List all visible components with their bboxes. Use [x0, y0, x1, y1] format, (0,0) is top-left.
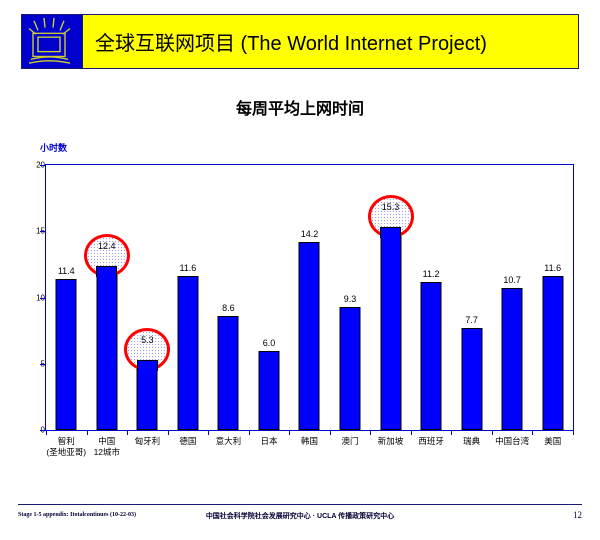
page-title: 全球互联网项目 (The World Internet Project) [95, 27, 487, 56]
x-tick-mark [532, 431, 533, 435]
bar-value-label: 6.0 [263, 338, 276, 348]
x-category-label: 中国台湾 [495, 436, 529, 447]
x-category-label: 中国12城市 [94, 436, 120, 458]
bar-slot: 5.3 [127, 165, 168, 430]
y-tick-mark [40, 298, 45, 299]
bar [380, 227, 401, 430]
x-tick-mark [127, 431, 128, 435]
bar-value-label: 15.3 [382, 202, 400, 212]
x-tick-mark [168, 431, 169, 435]
bar-value-label: 10.7 [503, 275, 521, 285]
x-tick-mark [208, 431, 209, 435]
bar [461, 328, 482, 430]
bar [56, 279, 77, 430]
bar-slot: 10.7 [492, 165, 533, 430]
bar [258, 351, 279, 431]
x-category-label: 智利(圣地亚哥) [46, 436, 86, 458]
wip-logo [22, 15, 83, 68]
footer-divider [18, 504, 582, 505]
bar-value-label: 7.7 [465, 315, 478, 325]
chart-title: 每周平均上网时间 [0, 95, 600, 119]
bar-series: 11.412.45.311.68.66.014.29.315.311.27.71… [46, 165, 573, 430]
x-category-label: 新加坡 [378, 436, 404, 447]
y-axis-label: 小时数 [40, 141, 67, 154]
x-category-label: 韩国 [301, 436, 318, 447]
x-tick-mark [249, 431, 250, 435]
bar-top-segment [96, 266, 117, 277]
slide-header: 全球互联网项目 (The World Internet Project) [21, 14, 579, 69]
bar-slot: 11.4 [46, 165, 87, 430]
bar [340, 307, 361, 430]
bar-value-label: 11.4 [58, 266, 75, 276]
x-tick-mark [492, 431, 493, 435]
bar-slot: 11.2 [411, 165, 452, 430]
bar-slot: 6.0 [249, 165, 290, 430]
bar-value-label: 5.3 [141, 335, 154, 345]
x-category-label: 瑞典 [463, 436, 480, 447]
x-tick-mark [411, 431, 412, 435]
bar-value-label: 8.6 [222, 303, 235, 313]
bar [421, 282, 442, 430]
x-category-label: 西班牙 [418, 436, 444, 447]
bar [96, 266, 117, 430]
monitor-screen-icon [22, 15, 82, 68]
x-category-label: 美国 [544, 436, 561, 447]
x-tick-mark [87, 431, 88, 435]
x-tick-mark [289, 431, 290, 435]
x-category-label: 日本 [260, 436, 277, 447]
x-tick-mark [370, 431, 371, 435]
bar-top-segment [137, 360, 158, 371]
bar-value-label: 9.3 [344, 294, 357, 304]
header-banner: 全球互联网项目 (The World Internet Project) [83, 15, 578, 68]
y-tick-mark [40, 430, 45, 431]
bar [218, 316, 239, 430]
footer-organization-text: 中国社会科学院社会发展研究中心 · UCLA 传播政策研究中心 [0, 511, 600, 521]
x-tick-mark [46, 431, 47, 435]
bar-value-label: 12.4 [98, 241, 116, 251]
x-axis-labels: 智利(圣地亚哥)中国12城市匈牙利德国意大利日本韩国澳门新加坡西班牙瑞典中国台湾… [0, 436, 600, 484]
bar [542, 276, 563, 430]
x-category-label: 澳门 [342, 436, 359, 447]
bar-slot: 11.6 [168, 165, 209, 430]
x-category-label: 意大利 [216, 436, 242, 447]
bar-slot: 8.6 [208, 165, 249, 430]
x-tick-mark [573, 431, 574, 435]
y-tick-mark [40, 364, 45, 365]
bar-value-label: 11.2 [423, 269, 440, 279]
bar [299, 242, 320, 430]
bar-slot: 7.7 [451, 165, 492, 430]
bar-value-label: 11.6 [179, 263, 196, 273]
bar-slot: 14.2 [289, 165, 330, 430]
bar [502, 288, 523, 430]
bar-slot: 9.3 [330, 165, 371, 430]
bar [177, 276, 198, 430]
x-category-label: 匈牙利 [135, 436, 161, 447]
y-tick-mark [40, 231, 45, 232]
x-category-label: 德国 [179, 436, 196, 447]
bar-slot: 11.6 [532, 165, 573, 430]
x-tick-mark [451, 431, 452, 435]
bar-slot: 12.4 [87, 165, 128, 430]
bar-value-label: 11.6 [544, 263, 561, 273]
footer-page-number: 12 [573, 510, 582, 520]
slide-footer: Stage 1-5 appendix: Itotalcontinues (10-… [0, 508, 600, 530]
x-tick-mark [330, 431, 331, 435]
bar-value-label: 14.2 [301, 229, 319, 239]
y-tick-mark [40, 165, 45, 166]
bar-top-segment [380, 227, 401, 238]
